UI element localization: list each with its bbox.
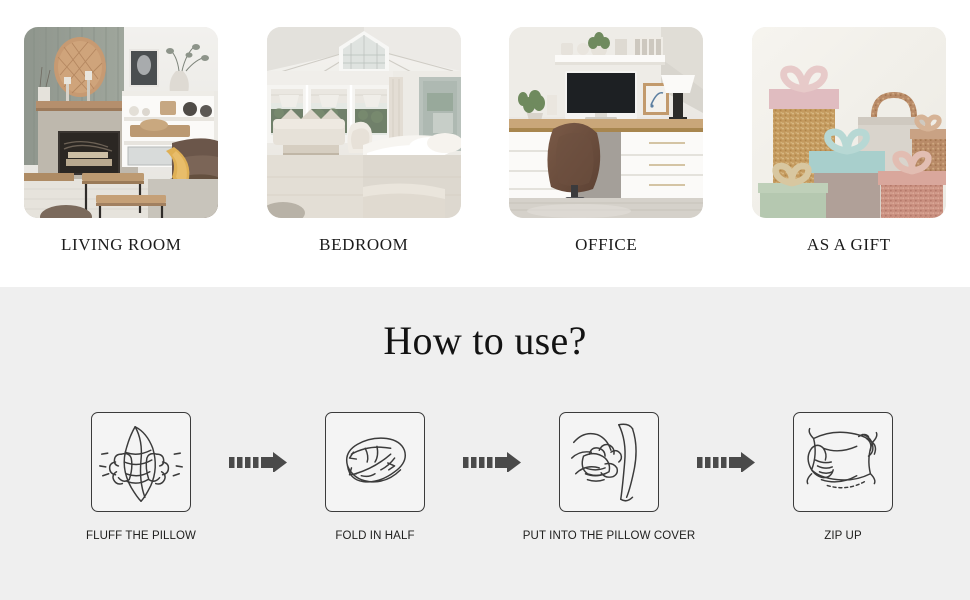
room-label: OFFICE — [575, 235, 637, 255]
zip-up-icon — [793, 412, 893, 512]
step-caption: FLUFF THE PILLOW — [86, 530, 196, 542]
fold-in-half-icon — [325, 412, 425, 512]
office-photo — [509, 27, 703, 218]
step-caption: FOLD IN HALF — [335, 530, 414, 542]
living-room-photo — [24, 27, 218, 218]
bedroom-photo — [267, 27, 461, 218]
room-card-office[interactable]: OFFICE — [485, 27, 728, 257]
how-to-use-section: How to use? — [0, 287, 970, 600]
step-fluff-the-pillow: FLUFF THE PILLOW — [55, 412, 227, 542]
step-zip-up: ZIP UP — [757, 412, 929, 542]
step-fold-in-half: FOLD IN HALF — [289, 412, 461, 542]
dashed-right-arrow-icon — [461, 412, 523, 512]
room-label: BEDROOM — [319, 235, 408, 255]
room-card-as-a-gift[interactable]: AS A GIFT — [728, 27, 970, 257]
dashed-right-arrow-icon — [695, 412, 757, 512]
room-card-living-room[interactable]: LIVING ROOM — [0, 27, 243, 257]
room-label: LIVING ROOM — [61, 235, 181, 255]
gift-illustration — [752, 27, 946, 218]
product-description-page: LIVING ROOM — [0, 0, 970, 600]
fluff-pillow-icon — [91, 412, 191, 512]
step-caption: ZIP UP — [824, 530, 861, 542]
insert-pillow-icon — [559, 412, 659, 512]
room-label: AS A GIFT — [807, 235, 891, 255]
room-card-bedroom[interactable]: BEDROOM — [243, 27, 486, 257]
dashed-right-arrow-icon — [227, 412, 289, 512]
step-caption: PUT INTO THE PILLOW COVER — [523, 530, 695, 542]
room-categories-section: LIVING ROOM — [0, 0, 970, 287]
step-put-into-the-pillow-cover: PUT INTO THE PILLOW COVER — [523, 412, 695, 542]
how-to-use-steps-row: FLUFF THE PILLOW — [0, 412, 970, 562]
how-to-use-title: How to use? — [0, 317, 970, 364]
room-categories-row: LIVING ROOM — [0, 27, 970, 257]
